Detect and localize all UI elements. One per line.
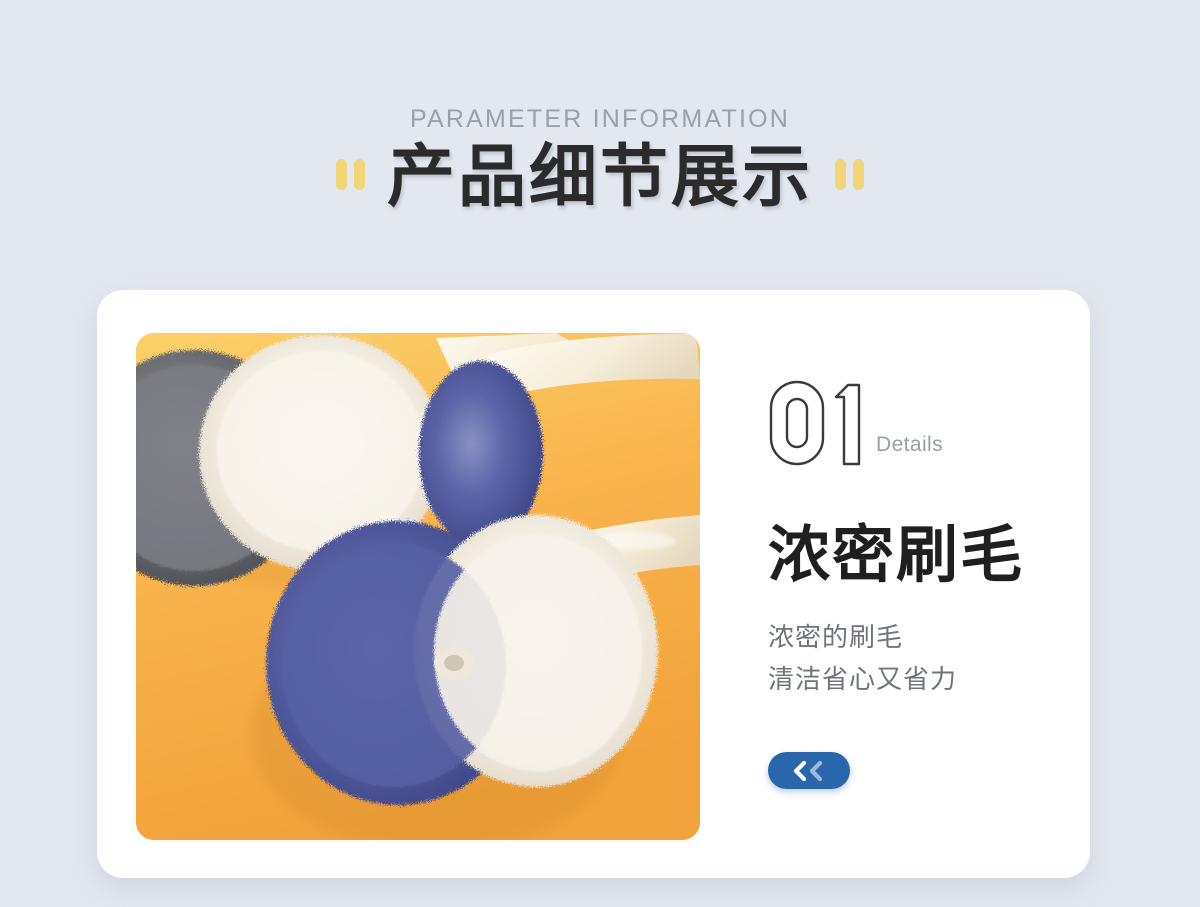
feature-subtext: 浓密的刷毛 清洁省心又省力	[768, 616, 1068, 700]
quote-mark-left-icon	[336, 159, 365, 190]
page-header: PARAMETER INFORMATION 产品细节展示	[0, 0, 1200, 270]
number-badge: Details	[768, 375, 1068, 467]
page-title: 产品细节展示	[387, 143, 813, 211]
subtext-line-1: 浓密的刷毛	[768, 616, 1068, 658]
double-chevron-left-icon	[787, 761, 831, 781]
title-row: 产品细节展示	[0, 143, 1200, 211]
subtext-line-2: 清洁省心又省力	[768, 658, 1068, 700]
feature-headline: 浓密刷毛	[768, 523, 1068, 588]
detail-card: Details 浓密刷毛 浓密的刷毛 清洁省心又省力	[97, 290, 1090, 878]
details-label: Details	[876, 433, 943, 467]
detail-content: Details 浓密刷毛 浓密的刷毛 清洁省心又省力	[768, 375, 1068, 789]
product-photo	[136, 333, 700, 840]
prev-arrow-button[interactable]	[768, 752, 850, 789]
eyebrow-text: PARAMETER INFORMATION	[0, 105, 1200, 134]
quote-mark-right-icon	[835, 159, 864, 190]
number-01-outline-icon	[768, 379, 864, 467]
